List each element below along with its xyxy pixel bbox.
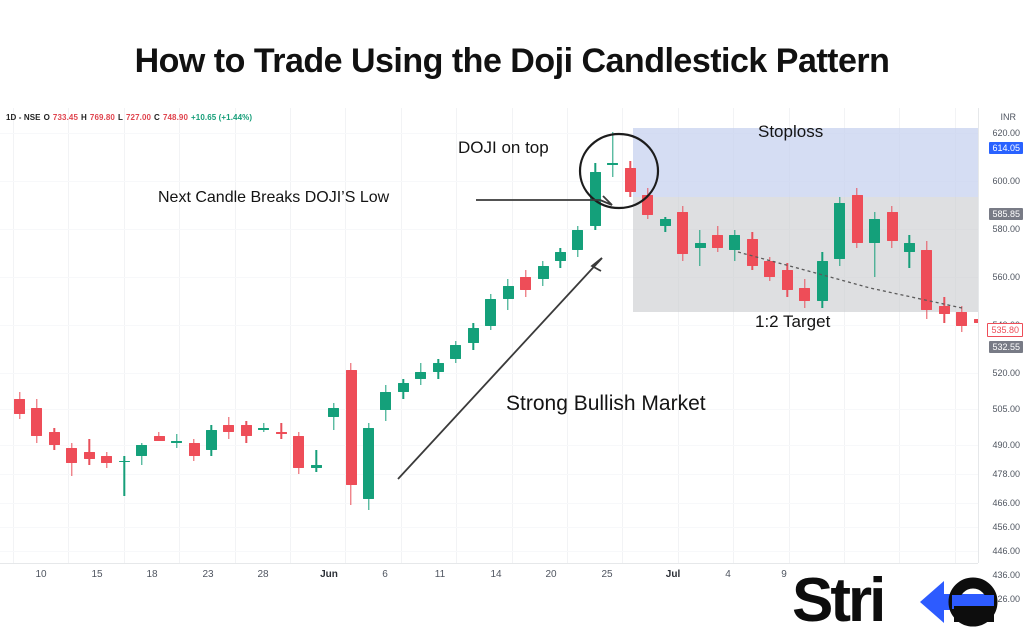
price-tick-label: 560.00: [992, 272, 1020, 282]
candle: [590, 108, 601, 563]
price-tick-label: 620.00: [992, 128, 1020, 138]
candle: [84, 108, 95, 563]
candle: [956, 108, 967, 563]
candle: [328, 108, 339, 563]
candle-body: [311, 465, 322, 467]
candle-body: [764, 261, 775, 277]
candle-body: [677, 212, 688, 254]
candle: [14, 108, 25, 563]
candle: [852, 108, 863, 563]
candle: [415, 108, 426, 563]
candle-body: [223, 425, 234, 432]
strike-logo[interactable]: Stri: [792, 570, 1010, 632]
time-tick-label: 14: [490, 569, 501, 580]
price-tick-label: 520.00: [992, 368, 1020, 378]
time-tick-label: 28: [257, 569, 268, 580]
candle-body: [695, 243, 706, 247]
candle: [503, 108, 514, 563]
candle: [468, 108, 479, 563]
candle-body: [869, 219, 880, 243]
candle: [241, 108, 252, 563]
candle-body: [799, 288, 810, 301]
ohlc-high-value: 769.80: [90, 113, 115, 122]
candle: [346, 108, 357, 563]
candle-body: [852, 195, 863, 244]
page-root: How to Trade Using the Doji Candlestick …: [0, 0, 1024, 640]
candle: [974, 108, 978, 563]
price-tick-label: 478.00: [992, 469, 1020, 479]
time-tick-label: 4: [725, 569, 731, 580]
candle-body: [136, 445, 147, 456]
candle: [189, 108, 200, 563]
candle: [258, 108, 269, 563]
candle: [398, 108, 409, 563]
candle: [380, 108, 391, 563]
candle: [869, 108, 880, 563]
price-tick-label: 580.00: [992, 224, 1020, 234]
candle-body: [189, 443, 200, 456]
annotation-next-candle: Next Candle Breaks DOJI’S Low: [158, 189, 389, 207]
candle: [747, 108, 758, 563]
candle-body: [625, 168, 636, 192]
candle: [834, 108, 845, 563]
candle-body: [84, 452, 95, 459]
candle-body: [154, 436, 165, 440]
time-tick-label: Jul: [666, 569, 680, 580]
strike-logo-text: Stri: [792, 566, 883, 635]
candle-body: [380, 392, 391, 410]
candle: [101, 108, 112, 563]
candle: [939, 108, 950, 563]
ohlc-low-label: L: [118, 113, 123, 122]
candle: [555, 108, 566, 563]
candle: [66, 108, 77, 563]
candle: [660, 108, 671, 563]
candle-body: [642, 195, 653, 215]
candle: [695, 108, 706, 563]
chart-plot-area[interactable]: 1D - NSEO733.45H769.80L727.00C748.90+10.…: [0, 108, 978, 563]
candle-body: [520, 277, 531, 290]
candle: [154, 108, 165, 563]
candle: [782, 108, 793, 563]
candle: [136, 108, 147, 563]
candle-body: [276, 432, 287, 434]
candle-body: [572, 230, 583, 250]
candle-body: [590, 172, 601, 225]
candle-body: [66, 448, 77, 464]
time-tick-label: 6: [382, 569, 388, 580]
price-badge[interactable]: 614.05: [989, 142, 1023, 154]
ohlc-open-label: O: [44, 113, 50, 122]
candle-body: [747, 239, 758, 266]
price-tick-label: 490.00: [992, 440, 1020, 450]
candlestick-chart[interactable]: 1D - NSEO733.45H769.80L727.00C748.90+10.…: [0, 108, 1024, 640]
ohlc-high-label: H: [81, 113, 87, 122]
candle-body: [555, 252, 566, 261]
candle: [485, 108, 496, 563]
price-tick-label: 446.00: [992, 546, 1020, 556]
candle-body: [31, 408, 42, 437]
time-tick-label: 9: [781, 569, 787, 580]
candle-body: [241, 425, 252, 436]
time-tick-label: 18: [146, 569, 157, 580]
price-axis[interactable]: INR 620.00600.00580.00560.00540.00520.00…: [978, 108, 1024, 563]
candle-body: [904, 243, 915, 252]
price-tick-label: 456.00: [992, 522, 1020, 532]
candle: [293, 108, 304, 563]
candle-wick: [281, 423, 282, 439]
candle: [171, 108, 182, 563]
candle-body: [974, 319, 978, 323]
candle: [450, 108, 461, 563]
page-title: How to Trade Using the Doji Candlestick …: [0, 42, 1024, 81]
candle: [921, 108, 932, 563]
candle-body: [415, 372, 426, 379]
candle: [607, 108, 618, 563]
candle-body: [538, 266, 549, 279]
candle-body: [485, 299, 496, 326]
candle: [206, 108, 217, 563]
gridline: [235, 108, 236, 563]
candle: [799, 108, 810, 563]
candle: [31, 108, 42, 563]
candle: [538, 108, 549, 563]
candle-body: [171, 441, 182, 443]
ohlc-symbol: 1D - NSE: [6, 113, 41, 122]
price-badge[interactable]: 535.80: [987, 323, 1023, 337]
time-tick-label: Jun: [320, 569, 338, 580]
candle-body: [468, 328, 479, 344]
candle-body: [101, 456, 112, 463]
candle-body: [398, 383, 409, 392]
candle-body: [503, 286, 514, 299]
candle: [904, 108, 915, 563]
candle-body: [607, 163, 618, 165]
time-tick-label: 15: [91, 569, 102, 580]
time-tick-label: 10: [35, 569, 46, 580]
time-tick-label: 25: [601, 569, 612, 580]
candle-body: [921, 250, 932, 310]
candle-body: [817, 261, 828, 301]
candle-wick: [699, 230, 700, 266]
candle-body: [14, 399, 25, 415]
ohlc-close-label: C: [154, 113, 160, 122]
ohlc-open-value: 733.45: [53, 113, 78, 122]
candle-body: [328, 408, 339, 417]
time-tick-label: 11: [435, 569, 445, 580]
candle-body: [956, 312, 967, 325]
price-badge[interactable]: 585.85: [989, 208, 1023, 220]
annotation-target: 1:2 Target: [755, 312, 830, 332]
candle: [119, 108, 130, 563]
candle: [817, 108, 828, 563]
candle-body: [206, 430, 217, 450]
candle: [764, 108, 775, 563]
price-axis-unit: INR: [1001, 112, 1017, 122]
candle-body: [450, 345, 461, 358]
price-badge[interactable]: 532.55: [989, 341, 1023, 353]
candle: [223, 108, 234, 563]
price-tick-label: 466.00: [992, 498, 1020, 508]
candle-body: [834, 203, 845, 258]
candle-body: [49, 432, 60, 445]
price-tick-label: 600.00: [992, 176, 1020, 186]
candle-body: [433, 363, 444, 372]
candle-body: [363, 428, 374, 499]
candle-body: [782, 270, 793, 290]
candle-body: [887, 212, 898, 241]
annotation-doji-on-top: DOJI on top: [458, 138, 549, 158]
ohlc-low-value: 727.00: [126, 113, 151, 122]
candle: [729, 108, 740, 563]
candle: [363, 108, 374, 563]
candle: [625, 108, 636, 563]
price-tick-label: 505.00: [992, 404, 1020, 414]
ohlc-change: +10.65 (+1.44%): [191, 113, 252, 122]
annotation-stoploss: Stoploss: [758, 122, 823, 142]
candle: [677, 108, 688, 563]
candle: [712, 108, 723, 563]
candle-body: [729, 235, 740, 251]
candle-wick: [612, 132, 613, 176]
gridline: [567, 108, 568, 563]
candle: [887, 108, 898, 563]
candle: [49, 108, 60, 563]
ohlc-header: 1D - NSEO733.45H769.80L727.00C748.90+10.…: [6, 113, 255, 122]
candle-body: [660, 219, 671, 226]
candle: [572, 108, 583, 563]
gridline: [290, 108, 291, 563]
time-tick-label: 23: [202, 569, 213, 580]
ohlc-close-value: 748.90: [163, 113, 188, 122]
candle-body: [293, 436, 304, 467]
candle-wick: [123, 456, 124, 496]
candle-wick: [315, 450, 316, 472]
candle-body: [258, 428, 269, 430]
candle: [642, 108, 653, 563]
candle: [433, 108, 444, 563]
strike-logo-e-base: [954, 606, 994, 622]
time-tick-label: 20: [545, 569, 556, 580]
strike-logo-mark: Stri: [792, 566, 1010, 636]
candle: [276, 108, 287, 563]
candle: [520, 108, 531, 563]
gridline: [622, 108, 623, 563]
candle-body: [712, 235, 723, 248]
candle-body: [939, 306, 950, 315]
annotation-bullish-market: Strong Bullish Market: [506, 392, 706, 416]
candle-body: [346, 370, 357, 485]
candle: [311, 108, 322, 563]
